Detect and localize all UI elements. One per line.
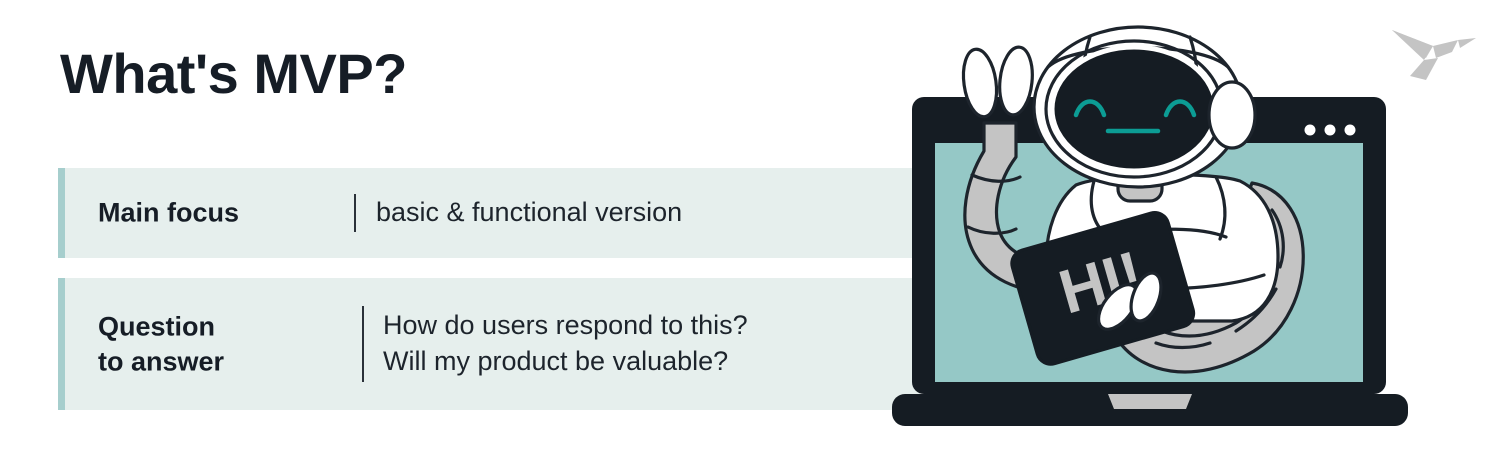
window-dot <box>1305 125 1316 136</box>
row-accent-bar <box>58 278 65 410</box>
row-divider <box>362 306 364 382</box>
row-value-main-focus: basic & functional version <box>376 195 682 231</box>
row-label-main-focus: Main focus <box>98 196 239 231</box>
info-row-question-to-answer: Question to answer How do users respond … <box>58 278 920 410</box>
page-title: What's MVP? <box>60 43 407 105</box>
laptop-base <box>892 394 1408 426</box>
origami-bird-logo <box>1386 18 1482 88</box>
robot-waving-from-laptop-illustration: HI! <box>880 5 1420 455</box>
row-accent-bar <box>58 168 65 258</box>
window-dot <box>1345 125 1356 136</box>
row-label-question-to-answer: Question to answer <box>98 309 224 378</box>
info-row-main-focus: Main focus basic & functional version <box>58 168 920 258</box>
row-divider <box>354 194 356 232</box>
slide-root: What's MVP? Main focus basic & functiona… <box>0 0 1500 475</box>
window-dot <box>1325 125 1336 136</box>
row-value-question-to-answer: How do users respond to this? Will my pr… <box>383 308 748 380</box>
